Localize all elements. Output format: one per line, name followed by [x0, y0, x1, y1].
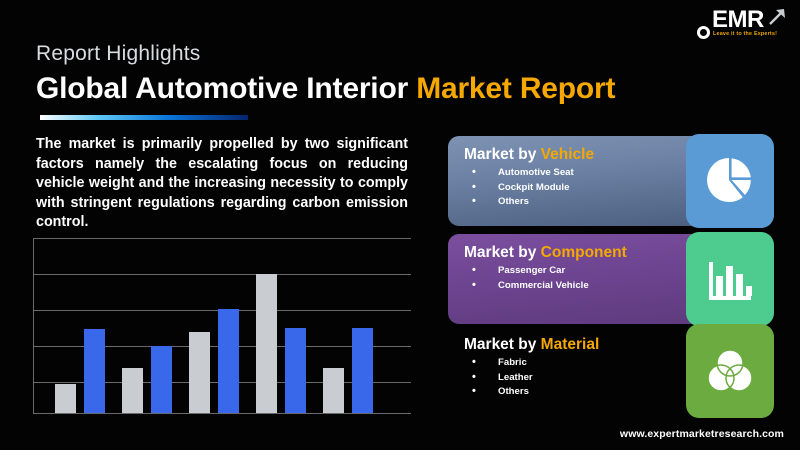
chart-bar [323, 368, 344, 413]
venn-diagram-icon [704, 345, 756, 397]
card-title-accent: Component [541, 244, 627, 261]
icon-panel [686, 232, 774, 326]
chart-x-axis [33, 413, 411, 414]
card-title-prefix: Market by [464, 146, 541, 163]
chart-gridline [33, 238, 411, 239]
logo-arrow-icon [766, 6, 788, 28]
card-title-accent: Material [541, 336, 600, 353]
chart-bar [84, 329, 105, 413]
chart-y-axis [33, 238, 34, 414]
chart-bar [218, 309, 239, 413]
logo-tagline: Leave it to the Experts! [713, 31, 777, 37]
card-title-prefix: Market by [464, 244, 541, 261]
card-title-accent: Vehicle [541, 146, 594, 163]
report-highlights-slide: EMR Leave it to the Experts! Report High… [0, 0, 800, 450]
chart-bar [151, 346, 172, 413]
icon-panel [686, 324, 774, 418]
card-market-by-material[interactable]: Market by Material Fabric Leather Others [448, 326, 772, 416]
chart-bar [55, 384, 76, 413]
chart-gridline [33, 274, 411, 275]
chart-bar [352, 328, 373, 413]
chart-bar [285, 328, 306, 413]
page-title: Global Automotive Interior Market Report [36, 72, 615, 106]
card-title-prefix: Market by [464, 336, 541, 353]
kicker-text: Report Highlights [36, 42, 200, 66]
chart-plot-area [33, 232, 411, 414]
logo-ring-icon [697, 26, 710, 39]
chart-bar [122, 368, 143, 413]
pie-chart-icon [704, 155, 756, 207]
intro-paragraph: The market is primarily propelled by two… [36, 135, 408, 233]
bar-chart [33, 232, 411, 414]
chart-bar [189, 332, 210, 413]
footer-website-url[interactable]: www.expertmarketresearch.com [620, 428, 784, 440]
card-market-by-component[interactable]: Market by Component Passenger Car Commer… [448, 234, 772, 324]
bar-chart-icon [705, 254, 755, 304]
title-underline-rule [40, 115, 248, 120]
logo-wordmark: EMR [712, 8, 764, 32]
title-main: Global Automotive Interior [36, 72, 408, 105]
emr-logo: EMR Leave it to the Experts! [694, 6, 786, 46]
title-accent: Market Report [416, 72, 615, 105]
card-market-by-vehicle[interactable]: Market by Vehicle Automotive Seat Cockpi… [448, 136, 772, 226]
icon-panel [686, 134, 774, 228]
chart-bar [256, 274, 277, 413]
